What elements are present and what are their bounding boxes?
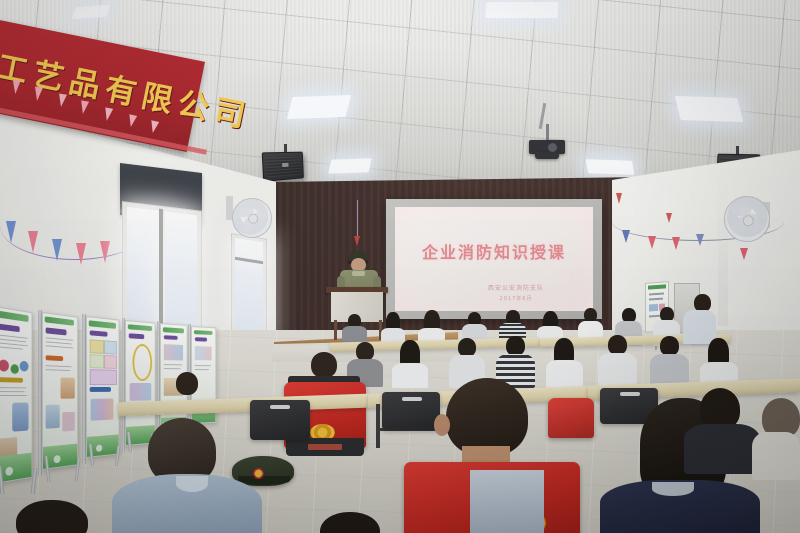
ceiling-light [328,158,371,173]
audience-torso [752,432,800,480]
audience-torso [684,424,760,474]
audience-row-mid [330,330,730,390]
desk-frame [376,404,380,448]
screen-title: 企业消防知识授课 [395,239,593,263]
volunteer-shirt-under [470,470,544,533]
screen-surface: 企业消防知识授课 西安公安消防支队 2017年6月 [395,207,593,311]
pennant-single-front-wall [666,213,672,223]
ceiling-light [485,2,558,18]
shirt-collar [176,476,208,492]
pennant-string-podium [357,200,358,238]
ceiling-light [586,159,635,175]
window-frame-left-far [231,233,267,341]
pennant-single-front-wall [616,193,622,204]
pennant-podium [354,236,360,246]
display-board [125,320,156,446]
audience-torso [546,360,583,388]
volunteer-vest-right [548,398,594,438]
screen-subtitle: 西安公安消防支队 [417,283,615,292]
chair [382,392,440,430]
display-board [86,316,119,458]
audience-head [506,336,525,356]
presenter-collar [352,271,365,276]
audience-head [584,308,597,322]
ceiling-light [287,95,351,119]
shirt-collar [652,482,694,496]
audience-torso [392,363,428,388]
audience-head [608,335,627,355]
audience-torso [598,353,637,388]
volunteer-ear [434,414,450,436]
chair [250,400,310,440]
officer-cap-badge [253,468,264,479]
pennant-garland-banner [0,62,210,112]
speaker-left [262,152,304,182]
ceiling-light [675,96,744,122]
display-board [42,312,78,470]
projector-lens [548,143,557,152]
volunteer-head-foreground [446,378,528,456]
volunteer-band-text [308,444,342,450]
audience-head [660,336,679,356]
projector-base [535,152,559,159]
volunteer-head [311,352,337,378]
audience-head [176,372,198,395]
meeting-room-photo: 博工艺品有限公司 [0,0,800,533]
display-board [0,306,32,484]
